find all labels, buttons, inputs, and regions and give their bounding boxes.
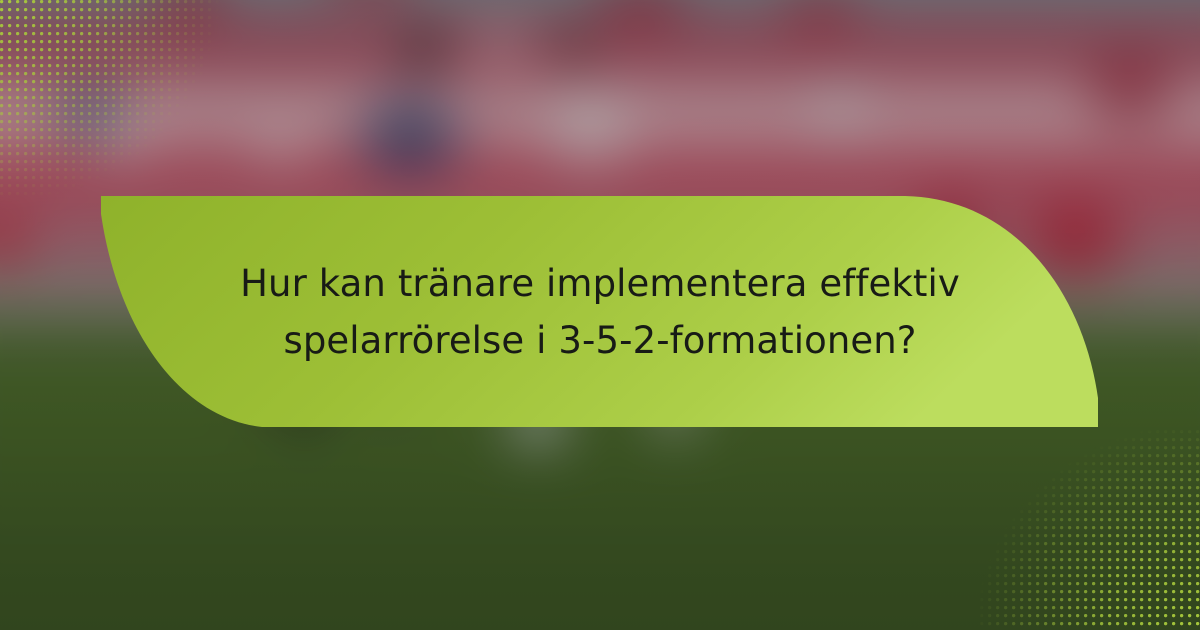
social-card-canvas: Hur kan tränare implementera effektiv sp… [0,0,1200,630]
question-card-shape [0,0,1200,630]
question-card: Hur kan tränare implementera effektiv sp… [0,0,1200,630]
